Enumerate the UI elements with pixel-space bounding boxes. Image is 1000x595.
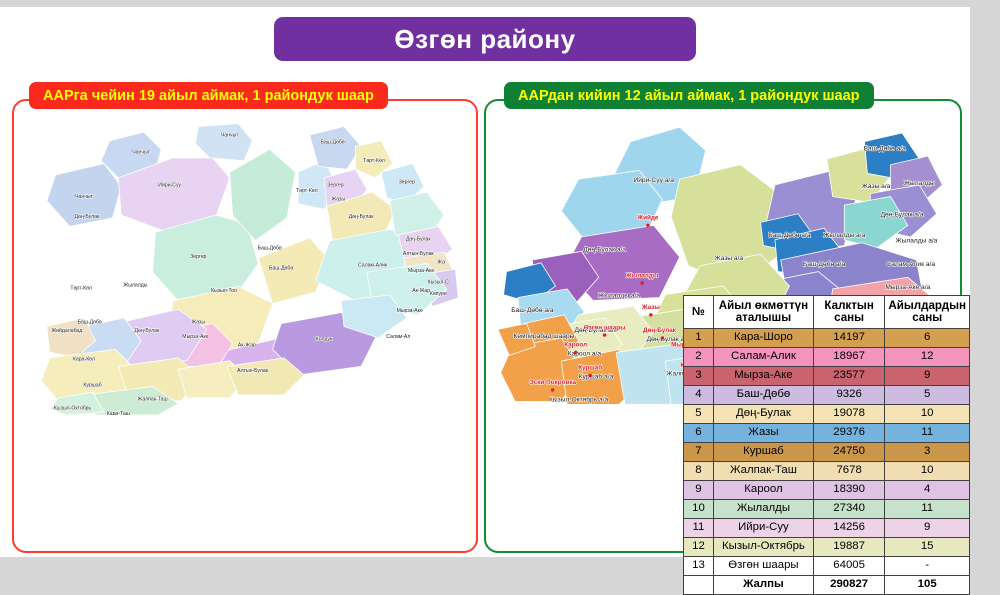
svg-text:Баш-Дөбө а/а: Баш-Дөбө а/а xyxy=(511,306,554,314)
svg-text:Эски Покровка: Эски Покровка xyxy=(529,379,576,386)
cell-population: 18390 xyxy=(813,481,884,500)
cell-name: Жазы xyxy=(713,424,813,443)
cell-total-blank xyxy=(684,576,714,595)
cell-villages: 4 xyxy=(885,481,970,500)
cell-name: Жылалды xyxy=(713,500,813,519)
cell-population: 29376 xyxy=(813,424,884,443)
svg-text:Баш-Дөбө: Баш-Дөбө xyxy=(258,245,282,251)
svg-text:Жылалды а/а: Жылалды а/а xyxy=(823,232,865,239)
cell-villages: 15 xyxy=(885,538,970,557)
table-row: 7 Куршаб 24750 3 xyxy=(684,443,970,462)
svg-text:Жылалды а/а: Жылалды а/а xyxy=(895,238,937,245)
svg-text:Баш-Дөбө а/а: Баш-Дөбө а/а xyxy=(803,260,846,268)
cell-number: 9 xyxy=(684,481,714,500)
panel-before-reform-header: ААРга чейин 19 айыл аймак, 1 райондук ша… xyxy=(29,82,388,109)
svg-text:Жылалды: Жылалды xyxy=(123,282,147,288)
cell-population: 27340 xyxy=(813,500,884,519)
svg-text:Колдук: Колдук xyxy=(316,337,333,343)
svg-text:Дөң-Булак а/а: Дөң-Булак а/а xyxy=(583,246,626,253)
cell-name: Дөң-Булак xyxy=(713,405,813,424)
svg-text:Кызыл-С: Кызыл-С xyxy=(428,280,449,286)
svg-text:Баш-Дөбө: Баш-Дөбө xyxy=(321,140,345,146)
svg-text:Жазы: Жазы xyxy=(641,304,660,311)
svg-text:Жылалды: Жылалды xyxy=(625,272,658,279)
svg-text:Куршаб: Куршаб xyxy=(83,382,101,388)
svg-text:Жазы а/а: Жазы а/а xyxy=(714,255,743,262)
svg-text:Баш-Дөбө а/а: Баш-Дөбө а/а xyxy=(768,231,811,239)
svg-text:Зергер: Зергер xyxy=(327,182,343,188)
table-body: 1 Кара-Шоро 14197 6 2 Салам-Алик 18967 1… xyxy=(684,329,970,595)
cell-villages: 12 xyxy=(885,348,970,367)
cell-villages: - xyxy=(885,557,970,576)
svg-text:Мырза-Аке: Мырза-Аке xyxy=(182,334,208,340)
col-header-population: Калктын саны xyxy=(813,296,884,329)
svg-text:Кызыл-Тоо: Кызыл-Тоо xyxy=(211,288,237,294)
cell-villages: 9 xyxy=(885,519,970,538)
table-row: 13 Өзгөн шаары 64005 - xyxy=(684,557,970,576)
col-header-village-count: Айылдардын саны xyxy=(885,296,970,329)
table-row: 12 Кызыл-Октябрь 19887 15 xyxy=(684,538,970,557)
svg-text:Жылалды: Жылалды xyxy=(904,180,935,187)
svg-text:Баш-Дөбө а/а: Баш-Дөбө а/а xyxy=(864,144,907,152)
svg-text:Ак-Жар: Ак-Жар xyxy=(238,342,256,348)
cell-name: Өзгөн шаары xyxy=(713,557,813,576)
svg-text:Жалпак-Таш: Жалпак-Таш xyxy=(138,397,168,403)
map-before-reform: Чанчыт Чанчыт Чанчыт Баш-Дөбө Зергер Жаз… xyxy=(28,115,460,415)
cell-population: 24750 xyxy=(813,443,884,462)
svg-text:Зергер: Зергер xyxy=(399,180,415,186)
svg-text:Төрт-Көл: Төрт-Көл xyxy=(363,158,385,164)
panel-before-reform: ААРга чейин 19 айыл аймак, 1 райондук ша… xyxy=(12,99,478,553)
cell-population: 64005 xyxy=(813,557,884,576)
cell-villages: 6 xyxy=(885,329,970,348)
table-row: 1 Кара-Шоро 14197 6 xyxy=(684,329,970,348)
svg-text:Ак-Жар: Ак-Жар xyxy=(412,288,430,294)
svg-text:Алтын-Булак: Алтын-Булак xyxy=(237,368,269,374)
cell-name: Салам-Алик xyxy=(713,348,813,367)
svg-text:Төрт-Көл: Төрт-Көл xyxy=(296,188,318,194)
svg-text:Кара-Таш: Кара-Таш xyxy=(107,411,130,415)
col-header-name: Айыл өкмөттүн аталышы xyxy=(713,296,813,329)
svg-text:Мырза-Аке: Мырза-Аке xyxy=(397,308,423,314)
table-row: 9 Кароол 18390 4 xyxy=(684,481,970,500)
cell-villages: 3 xyxy=(885,443,970,462)
cell-name: Кызыл-Октябрь xyxy=(713,538,813,557)
cell-population: 23577 xyxy=(813,367,884,386)
cell-population: 7678 xyxy=(813,462,884,481)
col-header-number: № xyxy=(684,296,714,329)
svg-text:Кара-Көл: Кара-Көл xyxy=(73,357,95,363)
table-row: 8 Жалпак-Таш 7678 10 xyxy=(684,462,970,481)
svg-text:Салам-Алик а/а: Салам-Алик а/а xyxy=(886,261,935,268)
svg-text:Баш-Дөбө: Баш-Дөбө xyxy=(78,320,102,326)
svg-text:Куршаб а/а: Куршаб а/а xyxy=(579,372,614,380)
svg-text:Жазы а/а: Жазы а/а xyxy=(862,183,891,190)
svg-text:Чанчыт: Чанчыт xyxy=(132,150,150,156)
cell-number: 12 xyxy=(684,538,714,557)
svg-text:Дөң-Булак: Дөң-Булак xyxy=(135,328,160,334)
cell-population: 19887 xyxy=(813,538,884,557)
svg-text:Жийде: Жийде xyxy=(636,214,659,222)
cell-population: 18967 xyxy=(813,348,884,367)
table-total-row: Жалпы 290827 105 xyxy=(684,576,970,595)
svg-text:Жийдалабад: Жийдалабад xyxy=(51,327,82,334)
svg-text:Дөң-Булак: Дөң-Булак xyxy=(643,327,677,334)
svg-text:Кызыл-Октябрь: Кызыл-Октябрь xyxy=(54,405,92,411)
svg-text:Кароол: Кароол xyxy=(564,342,587,349)
cell-number: 10 xyxy=(684,500,714,519)
cell-villages: 11 xyxy=(885,424,970,443)
svg-text:Куршаб: Куршаб xyxy=(578,364,602,372)
svg-text:Зергер: Зергер xyxy=(190,254,206,260)
cell-name: Ийри-Суу xyxy=(713,519,813,538)
cell-name: Баш-Дөбө xyxy=(713,386,813,405)
cell-villages: 10 xyxy=(885,462,970,481)
svg-text:Кемпирабад шаары: Кемпирабад шаары xyxy=(514,332,575,340)
cell-name: Кара-Шоро xyxy=(713,329,813,348)
cell-villages: 5 xyxy=(885,386,970,405)
cell-population: 19078 xyxy=(813,405,884,424)
cell-total-population: 290827 xyxy=(813,576,884,595)
svg-text:Алтын-Булак: Алтын-Булак xyxy=(403,251,435,257)
cell-total-label: Жалпы xyxy=(713,576,813,595)
table-row: 11 Ийри-Суу 14256 9 xyxy=(684,519,970,538)
table-header-row: № Айыл өкмөттүн аталышы Калктын саны Айы… xyxy=(684,296,970,329)
svg-text:Салам-Алик: Салам-Алик xyxy=(358,262,388,268)
table-row: 10 Жылалды 27340 11 xyxy=(684,500,970,519)
cell-number: 8 xyxy=(684,462,714,481)
svg-text:Салам-Ал: Салам-Ал xyxy=(386,334,410,340)
cell-villages: 10 xyxy=(885,405,970,424)
cell-number: 6 xyxy=(684,424,714,443)
table-row: 6 Жазы 29376 11 xyxy=(684,424,970,443)
cell-number: 2 xyxy=(684,348,714,367)
svg-text:Дөң-Булак: Дөң-Булак xyxy=(75,214,100,220)
svg-text:Ийри-Суу а/а: Ийри-Суу а/а xyxy=(633,176,674,184)
svg-text:Жазы: Жазы xyxy=(331,197,345,203)
table-row: 4 Баш-Дөбө 9326 5 xyxy=(684,386,970,405)
cell-number: 5 xyxy=(684,405,714,424)
slide-canvas: Өзгөн району ААРга чейин 19 айыл аймак, … xyxy=(0,7,970,557)
cell-number: 7 xyxy=(684,443,714,462)
cell-population: 9326 xyxy=(813,386,884,405)
svg-text:Дөң-Булак а/а: Дөң-Булак а/а xyxy=(881,212,924,219)
table-row: 2 Салам-Алик 18967 12 xyxy=(684,348,970,367)
svg-text:Мырза-Аке: Мырза-Аке xyxy=(408,268,434,274)
svg-text:Кызыл-Октябрь а/а: Кызыл-Октябрь а/а xyxy=(549,395,609,403)
svg-text:Өзгөн шаары: Өзгөн шаары xyxy=(584,324,626,331)
svg-text:Көпүрө: Көпүрө xyxy=(430,291,447,297)
slide-title-bar: Өзгөн району xyxy=(274,17,696,61)
page-title: Өзгөн району xyxy=(394,24,575,55)
svg-text:Баш-Дөбө: Баш-Дөбө xyxy=(269,265,293,271)
svg-text:Чанчыт: Чанчыт xyxy=(221,132,239,138)
svg-text:Төрт-Көл: Төрт-Көл xyxy=(70,285,92,291)
svg-text:Жазы: Жазы xyxy=(191,320,205,326)
cell-number: 1 xyxy=(684,329,714,348)
ayil-okmotu-table: № Айыл өкмөттүн аталышы Калктын саны Айы… xyxy=(683,295,970,595)
map-before-reform-svg: Чанчыт Чанчыт Чанчыт Баш-Дөбө Зергер Жаз… xyxy=(28,115,460,415)
svg-text:Жа: Жа xyxy=(437,260,445,266)
cell-name: Куршаб xyxy=(713,443,813,462)
cell-number: 4 xyxy=(684,386,714,405)
cell-name: Жалпак-Таш xyxy=(713,462,813,481)
svg-text:Кароол а/а: Кароол а/а xyxy=(568,350,602,357)
svg-text:Мырза-Аке а/а: Мырза-Аке а/а xyxy=(885,284,930,291)
panel-after-reform-header: ААРдан кийин 12 айыл аймак, 1 райондук ш… xyxy=(504,82,874,109)
table-row: 5 Дөң-Булак 19078 10 xyxy=(684,405,970,424)
cell-name: Мырза-Аке xyxy=(713,367,813,386)
panel-before-reform-label: ААРга чейин 19 айыл аймак, 1 райондук ша… xyxy=(43,88,374,104)
svg-text:Дөң-Булак: Дөң-Булак xyxy=(406,237,431,243)
cell-total-villages: 105 xyxy=(885,576,970,595)
cell-population: 14256 xyxy=(813,519,884,538)
svg-text:Жылалды а/а: Жылалды а/а xyxy=(598,293,640,300)
table-row: 3 Мырза-Аке 23577 9 xyxy=(684,367,970,386)
svg-text:Дөң-Булак: Дөң-Булак xyxy=(349,214,374,220)
svg-text:Ийри-Суу: Ийри-Суу xyxy=(158,181,181,188)
cell-name: Кароол xyxy=(713,481,813,500)
panel-after-reform-label: ААРдан кийин 12 айыл аймак, 1 райондук ш… xyxy=(518,88,860,104)
cell-number: 11 xyxy=(684,519,714,538)
cell-villages: 9 xyxy=(885,367,970,386)
cell-villages: 11 xyxy=(885,500,970,519)
cell-number: 13 xyxy=(684,557,714,576)
cell-population: 14197 xyxy=(813,329,884,348)
svg-text:Чанчыт: Чанчыт xyxy=(75,194,93,200)
cell-number: 3 xyxy=(684,367,714,386)
